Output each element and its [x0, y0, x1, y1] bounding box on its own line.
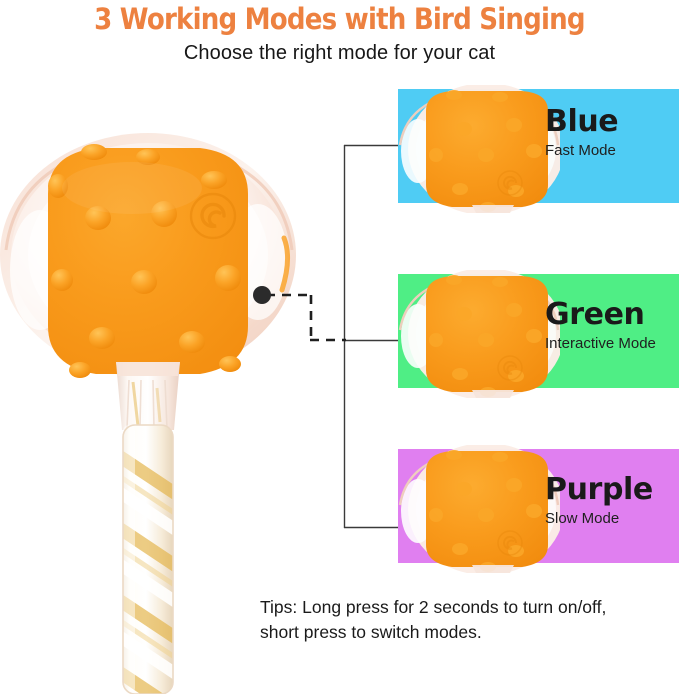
- mode-panel-blue-product-image: [390, 85, 560, 213]
- header: 3 Working Modes with Bird Singing Choose…: [0, 0, 679, 80]
- mode-panel-blue-text: Blue Fast Mode: [545, 105, 618, 161]
- dashed-lead-line: [266, 295, 346, 340]
- product-handle: [110, 425, 188, 694]
- mode-description-green: Interactive Mode: [545, 334, 656, 354]
- mode-panel-green-product-image: [390, 270, 560, 398]
- product-silicone-pad: [48, 144, 248, 382]
- mode-panel-green[interactable]: Green Interactive Mode: [398, 274, 679, 388]
- mode-description-blue: Fast Mode: [545, 141, 618, 161]
- page-subtitle: Choose the right mode for your cat: [0, 42, 679, 65]
- mode-panel-purple-text: Purple Slow Mode: [545, 473, 653, 529]
- mode-name-purple: Purple: [545, 473, 653, 507]
- mode-description-purple: Slow Mode: [545, 509, 653, 529]
- tips-block: Tips: Long press for 2 seconds to turn o…: [260, 595, 670, 645]
- mode-name-green: Green: [545, 298, 656, 332]
- mode-panel-purple[interactable]: Purple Slow Mode: [398, 449, 679, 563]
- mode-panel-purple-product-image: [390, 445, 560, 573]
- tips-line-1: Tips: Long press for 2 seconds to turn o…: [260, 595, 670, 620]
- mode-button-callout-dot[interactable]: [253, 286, 271, 304]
- product-neck: [116, 362, 180, 430]
- tips-line-2: short press to switch modes.: [260, 620, 670, 645]
- mode-panel-green-text: Green Interactive Mode: [545, 298, 656, 354]
- callout-connector: [250, 130, 410, 540]
- mode-panel-blue[interactable]: Blue Fast Mode: [398, 89, 679, 203]
- page-title: 3 Working Modes with Bird Singing: [34, 2, 645, 36]
- mode-name-blue: Blue: [545, 105, 618, 139]
